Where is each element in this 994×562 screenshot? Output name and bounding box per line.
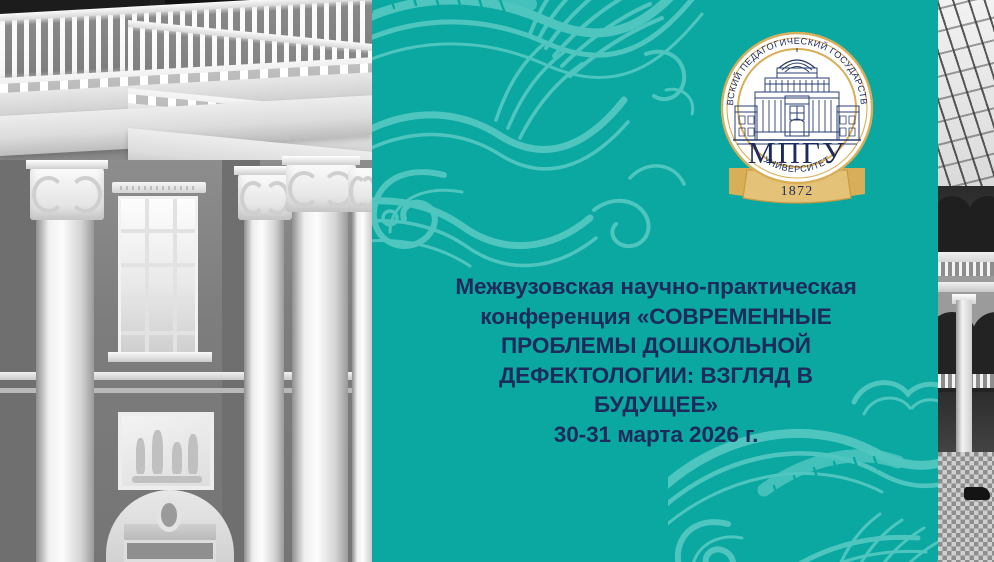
title-line-4: ДЕФЕКТОЛОГИИ: ВЗГЛЯД В: [400, 361, 912, 391]
conference-poster: 1872 МОСКОВСКИЙ ПЕДАГОГИЧЕСКИЙ ГОСУДАРСТ…: [0, 0, 994, 562]
column-left: [36, 214, 94, 562]
glass-roof-structure: [938, 0, 994, 200]
gallery-band: [938, 282, 994, 292]
upper-arch-left: [938, 196, 972, 252]
corinthian-capital-far-right: [348, 168, 372, 212]
corinthian-capital-mid: [238, 172, 292, 220]
bas-relief-panel: [118, 412, 214, 490]
column-mid: [244, 214, 284, 562]
interior-columns-balustrade-photo: [0, 0, 372, 562]
upper-arch-right: [968, 196, 994, 252]
title-line-2: конференция «СОВРЕМЕННЫЕ: [400, 302, 912, 332]
window: [118, 196, 198, 356]
checkered-floor: [938, 452, 994, 562]
conference-title-block: Межвузовская научно-практическая конфере…: [400, 272, 912, 450]
floral-wave-ornament-top-left: [372, 0, 714, 300]
hall-column: [956, 300, 972, 470]
conference-dates: 30-31 марта 2026 г.: [400, 420, 912, 450]
window-sill: [108, 352, 212, 362]
corinthian-capital-left: [30, 166, 104, 220]
abacus-right: [282, 156, 360, 165]
title-line-5: БУДУЩЕЕ»: [400, 390, 912, 420]
title-line-1: Межвузовская научно-практическая: [400, 272, 912, 302]
mpgu-seal-svg: 1872 МОСКОВСКИЙ ПЕДАГОГИЧЕСКИЙ ГОСУДАРСТ…: [713, 18, 881, 216]
column-right: [292, 206, 348, 562]
title-line-3: ПРОБЛЕМЫ ДОШКОЛЬНОЙ: [400, 331, 912, 361]
memorial-tablet: [124, 540, 216, 562]
abacus-left: [26, 160, 108, 169]
window-head: [112, 182, 206, 193]
upper-balustrade: [938, 262, 994, 276]
grand-piano: [964, 487, 990, 500]
corinthian-capital-right: [286, 162, 356, 212]
grand-hall-glass-roof-photo: [938, 0, 994, 562]
oval-medallion: [156, 498, 182, 532]
column-far-right: [352, 208, 372, 562]
seal-acronym-text: МПГУ: [748, 135, 847, 170]
teal-content-panel: 1872 МОСКОВСКИЙ ПЕДАГОГИЧЕСКИЙ ГОСУДАРСТ…: [372, 0, 938, 562]
founded-year-text: 1872: [781, 184, 814, 199]
mpgu-university-seal: 1872 МОСКОВСКИЙ ПЕДАГОГИЧЕСКИЙ ГОСУДАРСТ…: [713, 18, 881, 216]
